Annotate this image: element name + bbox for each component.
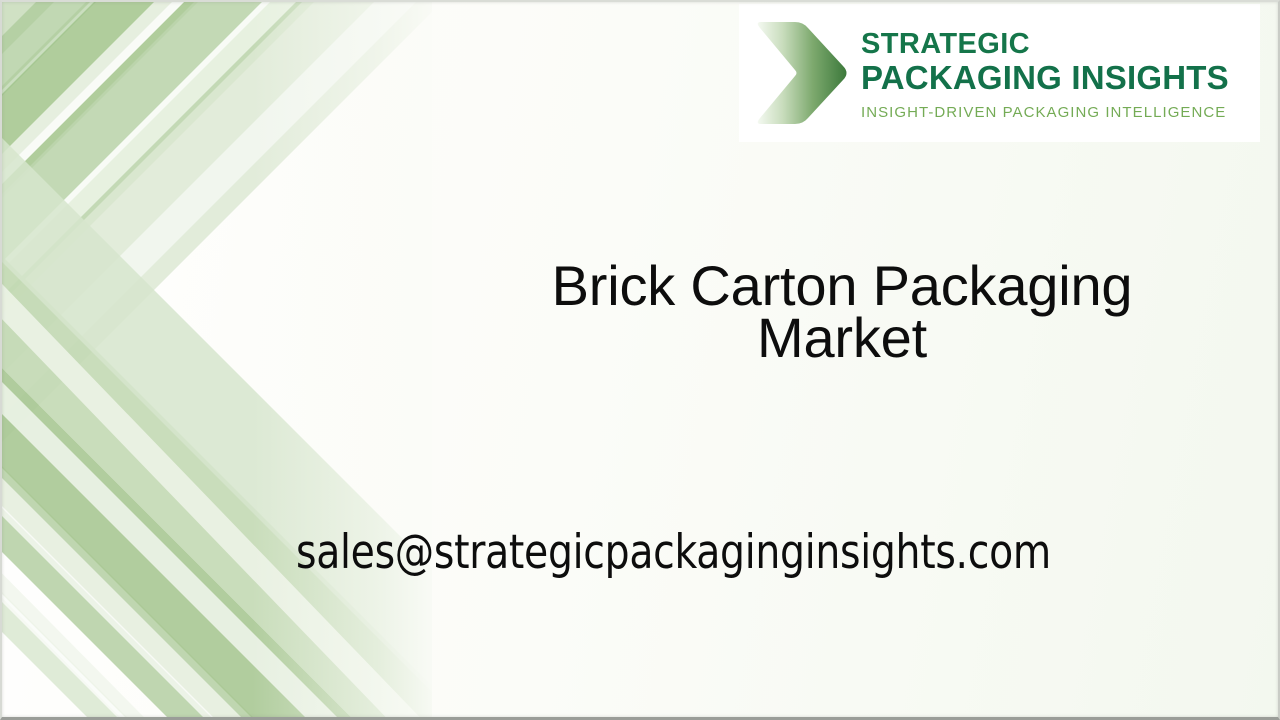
contact-email[interactable]: sales@strategicpackaginginsights.com [296, 525, 1051, 581]
logo-wordmark: STRATEGIC PACKAGING INSIGHTS INSIGHT-DRI… [861, 25, 1229, 122]
logo-tagline: INSIGHT-DRIVEN PACKAGING INTELLIGENCE [861, 104, 1229, 122]
company-logo: STRATEGIC PACKAGING INSIGHTS INSIGHT-DRI… [739, 4, 1260, 142]
page-title: Brick Carton Packaging Market [432, 260, 1252, 364]
title-line-2: Market [757, 306, 927, 369]
logo-line-strategic: STRATEGIC [861, 29, 1229, 60]
logo-line-packaging-insights: PACKAGING INSIGHTS [861, 60, 1229, 95]
title-slide: STRATEGIC PACKAGING INSIGHTS INSIGHT-DRI… [0, 0, 1280, 720]
chevron-arrow-icon [755, 14, 851, 132]
chevron-stripe-artwork [2, 2, 432, 718]
decorative-chevron-svg [2, 2, 432, 718]
